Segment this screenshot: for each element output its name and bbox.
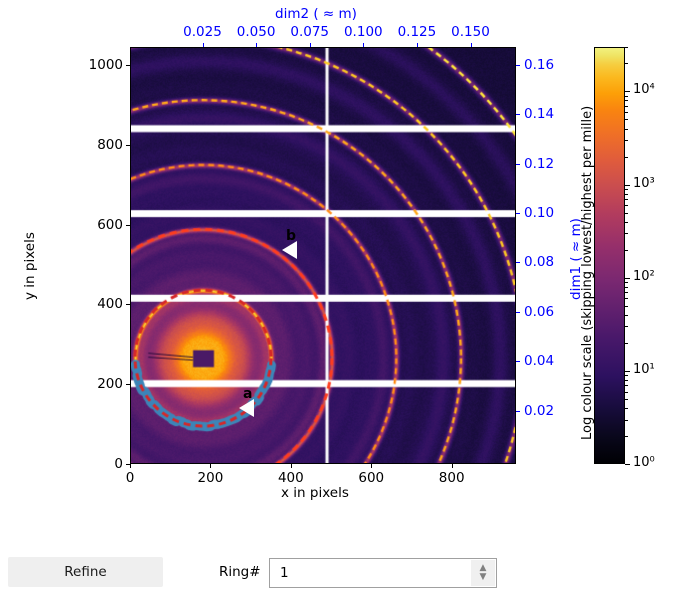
colorbar-minor-tickmark xyxy=(625,47,628,48)
colorbar-minor-tickmark xyxy=(625,106,628,107)
colorbar-tick-label: 10³ xyxy=(633,176,655,191)
top-tick-label: 0.150 xyxy=(447,24,495,40)
colorbar-minor-tickmark xyxy=(625,420,628,421)
colorbar-minor-tickmark xyxy=(625,100,628,101)
colorbar-tickmark xyxy=(625,185,630,186)
top-tick-label: 0.125 xyxy=(393,24,441,40)
left-axis-label: y in pixels xyxy=(22,232,38,300)
spinbox-buttons[interactable]: ▲ ▼ xyxy=(471,560,495,586)
top-axis-label: dim2 ( ≈ m) xyxy=(275,6,357,22)
bottom-tick-label: 800 xyxy=(436,470,468,486)
colorbar-minor-tickmark xyxy=(625,222,628,223)
colorbar-tick-label: 10⁰ xyxy=(633,455,655,470)
top-tick-label: 0.100 xyxy=(339,24,387,40)
bottom-tickmark xyxy=(130,464,131,468)
right-tickmark xyxy=(516,312,520,313)
colorbar-minor-tickmark xyxy=(625,199,628,200)
colorbar-minor-tickmark xyxy=(625,140,628,141)
colorbar-minor-tickmark xyxy=(625,375,628,376)
colorbar-minor-tickmark xyxy=(625,326,628,327)
colorbar-minor-tickmark xyxy=(625,343,628,344)
bottom-axis-label: x in pixels xyxy=(281,485,349,501)
top-tick-label: 0.075 xyxy=(286,24,334,40)
colorbar-minor-tickmark xyxy=(625,436,628,437)
colorbar-minor-tickmark xyxy=(625,119,628,120)
colorbar-minor-tickmark xyxy=(625,205,628,206)
left-tick-label: 600 xyxy=(80,217,123,233)
left-tick-label: 1000 xyxy=(80,57,123,73)
right-tickmark xyxy=(516,411,520,412)
colorbar-tickmark xyxy=(625,371,630,372)
colorbar-minor-tickmark xyxy=(625,233,628,234)
right-tick-label: 0.06 xyxy=(524,304,554,320)
colorbar-minor-tickmark xyxy=(625,292,628,293)
colorbar-minor-tickmark xyxy=(625,250,628,251)
colorbar-minor-tickmark xyxy=(625,408,628,409)
detector-image[interactable] xyxy=(131,48,515,463)
ring-marker-arrow-b[interactable] xyxy=(282,241,297,259)
colorbar-minor-tickmark xyxy=(625,385,628,386)
colorbar-minor-tickmark xyxy=(625,129,628,130)
right-tickmark xyxy=(516,361,520,362)
chevron-down-icon[interactable]: ▼ xyxy=(480,573,487,582)
colorbar-minor-tickmark xyxy=(625,287,628,288)
bottom-tickmark xyxy=(291,464,292,468)
bottom-tick-label: 400 xyxy=(275,470,307,486)
ring-number-label: Ring# xyxy=(219,564,261,580)
colorbar-minor-tickmark xyxy=(625,399,628,400)
colorbar-minor-tickmark xyxy=(625,380,628,381)
bottom-tickmark xyxy=(210,464,211,468)
bottom-tick-label: 0 xyxy=(114,470,146,486)
colorbar-tick-label: 10² xyxy=(633,269,655,284)
detector-image-plot[interactable]: b a xyxy=(130,47,516,464)
colorbar-minor-tickmark xyxy=(625,306,628,307)
ring-number-spinbox[interactable]: 1 ▲ ▼ xyxy=(269,558,497,588)
right-tick-label: 0.12 xyxy=(524,156,554,172)
left-tick-label: 200 xyxy=(80,376,123,392)
bottom-tick-label: 600 xyxy=(355,470,387,486)
colorbar-minor-tickmark xyxy=(625,63,628,64)
colorbar-tick-label: 10¹ xyxy=(633,362,655,377)
bottom-tickmark xyxy=(371,464,372,468)
right-tick-label: 0.16 xyxy=(524,57,554,73)
bottom-tick-label: 200 xyxy=(194,470,226,486)
right-tick-label: 0.04 xyxy=(524,353,554,369)
right-tickmark xyxy=(516,65,520,66)
colorbar-minor-tickmark xyxy=(625,298,628,299)
bottom-tickmark xyxy=(452,464,453,468)
right-tick-label: 0.08 xyxy=(524,254,554,270)
top-tick-label: 0.050 xyxy=(232,24,280,40)
colorbar xyxy=(594,47,625,464)
colorbar-minor-tickmark xyxy=(625,315,628,316)
colorbar-tickmark xyxy=(625,278,630,279)
top-tick-label: 0.025 xyxy=(179,24,227,40)
right-tickmark xyxy=(516,164,520,165)
colorbar-minor-tickmark xyxy=(625,392,628,393)
ring-marker-arrow-a[interactable] xyxy=(239,399,254,417)
right-tickmark xyxy=(516,213,520,214)
colorbar-tick-label: 10⁴ xyxy=(633,82,655,97)
colorbar-label: Log colour scale (skipping lowest/highes… xyxy=(580,106,595,440)
colorbar-minor-tickmark xyxy=(625,96,628,97)
colorbar-minor-tickmark xyxy=(625,189,628,190)
colorbar-tickmark xyxy=(625,91,630,92)
ring-number-value[interactable]: 1 xyxy=(280,565,289,581)
colorbar-minor-tickmark xyxy=(625,157,628,158)
left-tick-label: 400 xyxy=(80,296,123,312)
colorbar-minor-tickmark xyxy=(625,194,628,195)
colorbar-minor-tickmark xyxy=(625,213,628,214)
colorbar-minor-tickmark xyxy=(625,112,628,113)
right-tick-label: 0.02 xyxy=(524,403,554,419)
refine-button[interactable]: Refine xyxy=(8,557,163,587)
right-tickmark xyxy=(516,114,520,115)
colorbar-minor-tickmark xyxy=(625,282,628,283)
colorbar-tickmark xyxy=(625,464,630,465)
right-tick-label: 0.10 xyxy=(524,205,554,221)
right-tickmark xyxy=(516,262,520,263)
matplotlib-figure: dim2 ( ≈ m) 0.0250.0500.0750.1000.1250.1… xyxy=(0,0,683,540)
left-tick-label: 800 xyxy=(80,137,123,153)
right-tick-label: 0.14 xyxy=(524,106,554,122)
